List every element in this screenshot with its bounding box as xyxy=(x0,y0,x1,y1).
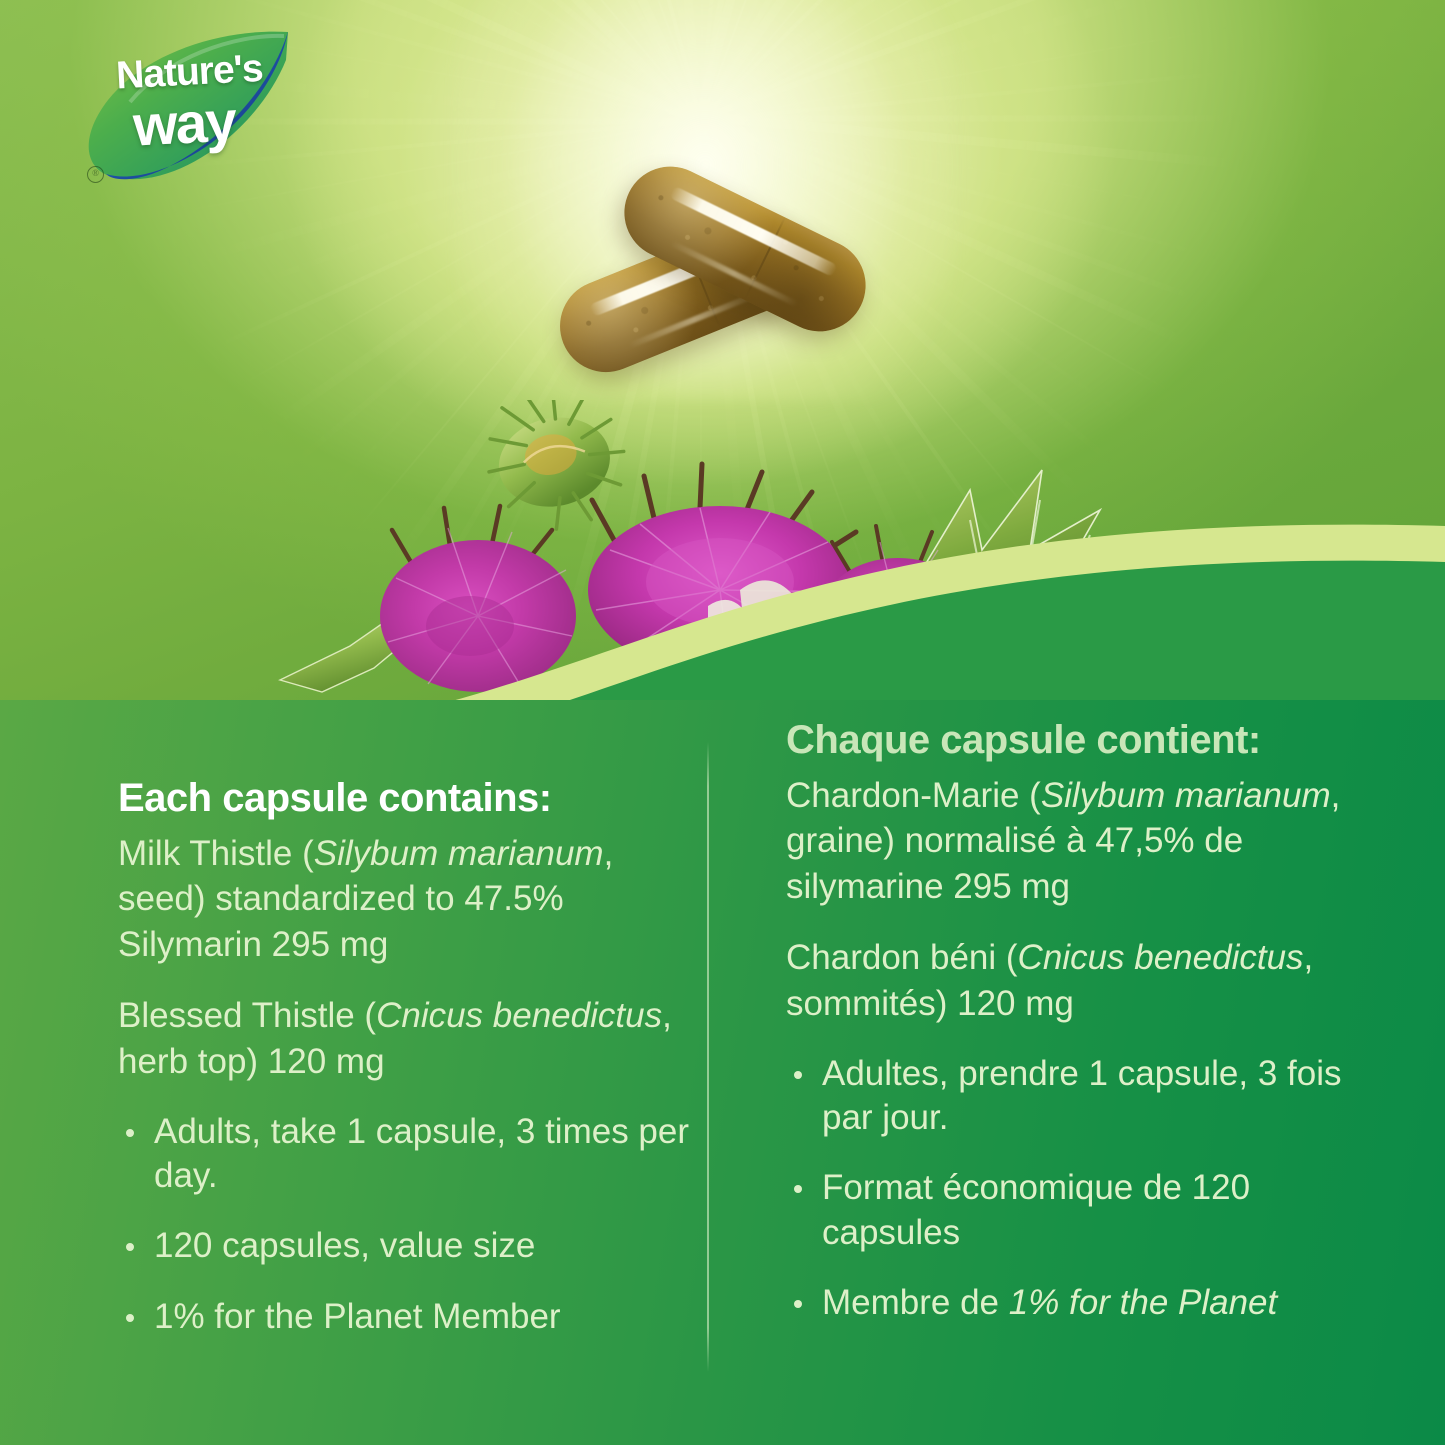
ingredient-prefix: Milk Thistle ( xyxy=(118,834,314,873)
list-item: Adults, take 1 capsule, 3 times per day. xyxy=(118,1110,708,1198)
product-marketing-image: Nature's way ® Each capsule contains: Mi… xyxy=(0,0,1445,1445)
list-item: 120 capsules, value size xyxy=(118,1224,708,1268)
list-item: Membre de 1% for the Planet xyxy=(786,1281,1386,1325)
english-bullet-list: Adults, take 1 capsule, 3 times per day.… xyxy=(118,1110,708,1338)
french-ingredient-1: Chardon-Marie (Silybum marianum, graine)… xyxy=(786,773,1386,910)
ingredient-latin-name: Cnicus benedictus xyxy=(376,996,662,1035)
french-heading: Chaque capsule contient: xyxy=(786,718,1386,763)
ingredient-latin-name: Cnicus benedictus xyxy=(1018,938,1304,977)
ingredient-prefix: Chardon béni ( xyxy=(786,938,1018,977)
ingredient-prefix: Blessed Thistle ( xyxy=(118,996,376,1035)
capsule-icon xyxy=(540,185,900,385)
english-column: Each capsule contains: Milk Thistle (Sil… xyxy=(118,776,708,1365)
bullet-prefix: Membre de xyxy=(822,1283,1009,1322)
ingredient-latin-name: Silybum marianum xyxy=(314,834,604,873)
list-item: Format économique de 120 capsules xyxy=(786,1166,1386,1254)
bullet-italic-brand: 1% for the Planet xyxy=(1009,1283,1278,1322)
logo-line-2: way xyxy=(132,88,237,159)
french-column: Chaque capsule contient: Chardon-Marie (… xyxy=(786,718,1386,1351)
ingredient-latin-name: Silybum marianum xyxy=(1041,776,1331,815)
english-ingredient-2: Blessed Thistle (Cnicus benedictus, herb… xyxy=(118,993,708,1084)
english-heading: Each capsule contains: xyxy=(118,776,708,821)
english-ingredient-1: Milk Thistle (Silybum marianum, seed) st… xyxy=(118,831,708,968)
french-ingredient-2: Chardon béni (Cnicus benedictus, sommité… xyxy=(786,935,1386,1026)
registered-trademark-icon: ® xyxy=(87,166,104,183)
ingredient-prefix: Chardon-Marie ( xyxy=(786,776,1041,815)
french-bullet-list: Adultes, prendre 1 capsule, 3 fois par j… xyxy=(786,1052,1386,1324)
brand-logo: Nature's way ® xyxy=(74,26,294,181)
list-item: Adultes, prendre 1 capsule, 3 fois par j… xyxy=(786,1052,1386,1140)
list-item: 1% for the Planet Member xyxy=(118,1295,708,1339)
